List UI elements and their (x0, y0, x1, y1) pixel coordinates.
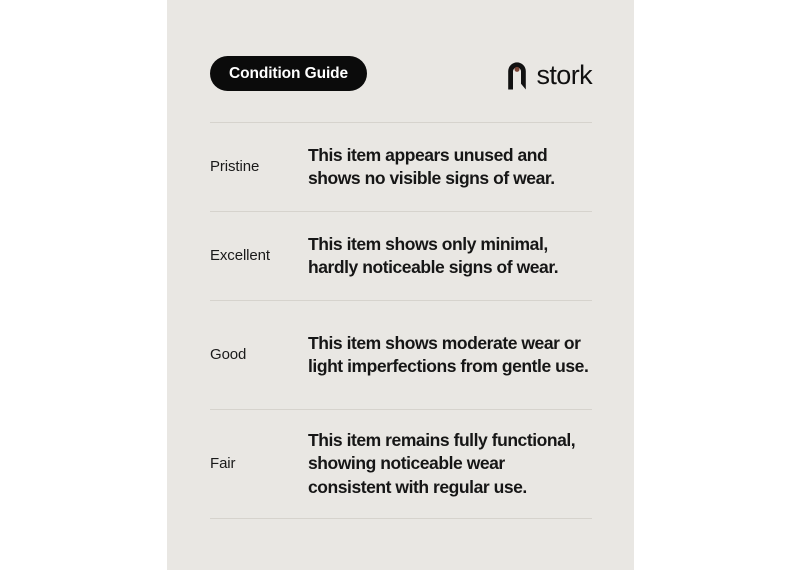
condition-label: Excellent (210, 246, 308, 266)
condition-label: Pristine (210, 157, 308, 177)
condition-description: This item appears unused and shows no vi… (308, 144, 592, 190)
condition-label: Fair (210, 454, 308, 474)
condition-label: Good (210, 345, 308, 365)
brand-lockup: stork (505, 56, 592, 92)
condition-description: This item shows moderate wear or light i… (308, 332, 592, 378)
row-divider (210, 518, 592, 519)
condition-guide-card: Condition Guide stork Pristine This item… (167, 0, 634, 570)
table-row: Excellent This item shows only minimal, … (210, 212, 592, 300)
stork-arch-logo-icon (505, 59, 529, 90)
card-header: Condition Guide stork (210, 56, 592, 92)
table-row: Good This item shows moderate wear or li… (210, 301, 592, 409)
table-row: Fair This item remains fully functional,… (210, 410, 592, 518)
condition-guide-badge: Condition Guide (210, 56, 367, 91)
table-row: Pristine This item appears unused and sh… (210, 123, 592, 211)
condition-description: This item shows only minimal, hardly not… (308, 233, 592, 279)
screenshot-canvas: Condition Guide stork Pristine This item… (0, 0, 800, 570)
brand-wordmark: stork (536, 62, 592, 89)
condition-description: This item remains fully functional, show… (308, 429, 592, 498)
condition-guide-table: Pristine This item appears unused and sh… (210, 122, 592, 519)
